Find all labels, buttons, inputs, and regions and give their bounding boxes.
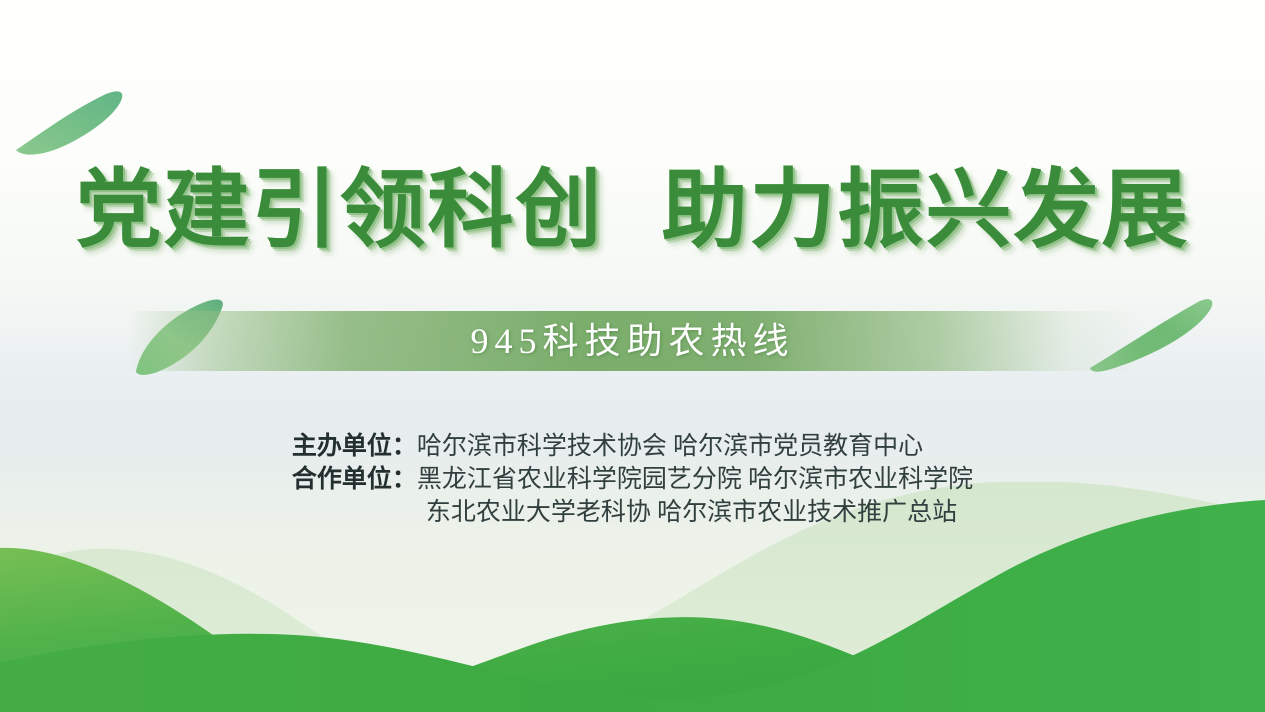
wave-layer-front: [0, 500, 1265, 712]
info-row-organizer: 主办单位：哈尔滨市科学技术协会 哈尔滨市党员教育中心: [292, 430, 973, 463]
presentation-slide: 党建引领科创助力振兴发展 945科技助农热线 主办单位：哈尔滨市科学技术协会 哈…: [0, 0, 1265, 712]
info-row-partner-continued: 东北农业大学老科协 哈尔滨市农业技术推广总站: [292, 496, 973, 529]
title-part-2: 助力振兴发展: [662, 162, 1190, 258]
info-label-partner: 合作单位：: [292, 466, 417, 493]
subtitle-text: 945科技助农热线: [0, 311, 1265, 371]
info-value-organizer: 哈尔滨市科学技术协会 哈尔滨市党员教育中心: [417, 433, 923, 460]
wave-layer-mid: [0, 548, 1265, 712]
main-title: 党建引领科创助力振兴发展: [0, 158, 1265, 262]
organizer-info: 主办单位：哈尔滨市科学技术协会 哈尔滨市党员教育中心 合作单位：黑龙江省农业科学…: [0, 430, 1265, 529]
title-part-1: 党建引领科创: [76, 162, 604, 258]
info-label-organizer: 主办单位：: [292, 433, 417, 460]
info-row-partner: 合作单位：黑龙江省农业科学院园艺分院 哈尔滨市农业科学院: [292, 463, 973, 496]
info-value-partner-continued: 东北农业大学老科协 哈尔滨市农业技术推广总站: [426, 499, 957, 526]
leaf-icon-top-left: [10, 78, 130, 158]
info-value-partner: 黑龙江省农业科学院园艺分院 哈尔滨市农业科学院: [417, 466, 973, 493]
